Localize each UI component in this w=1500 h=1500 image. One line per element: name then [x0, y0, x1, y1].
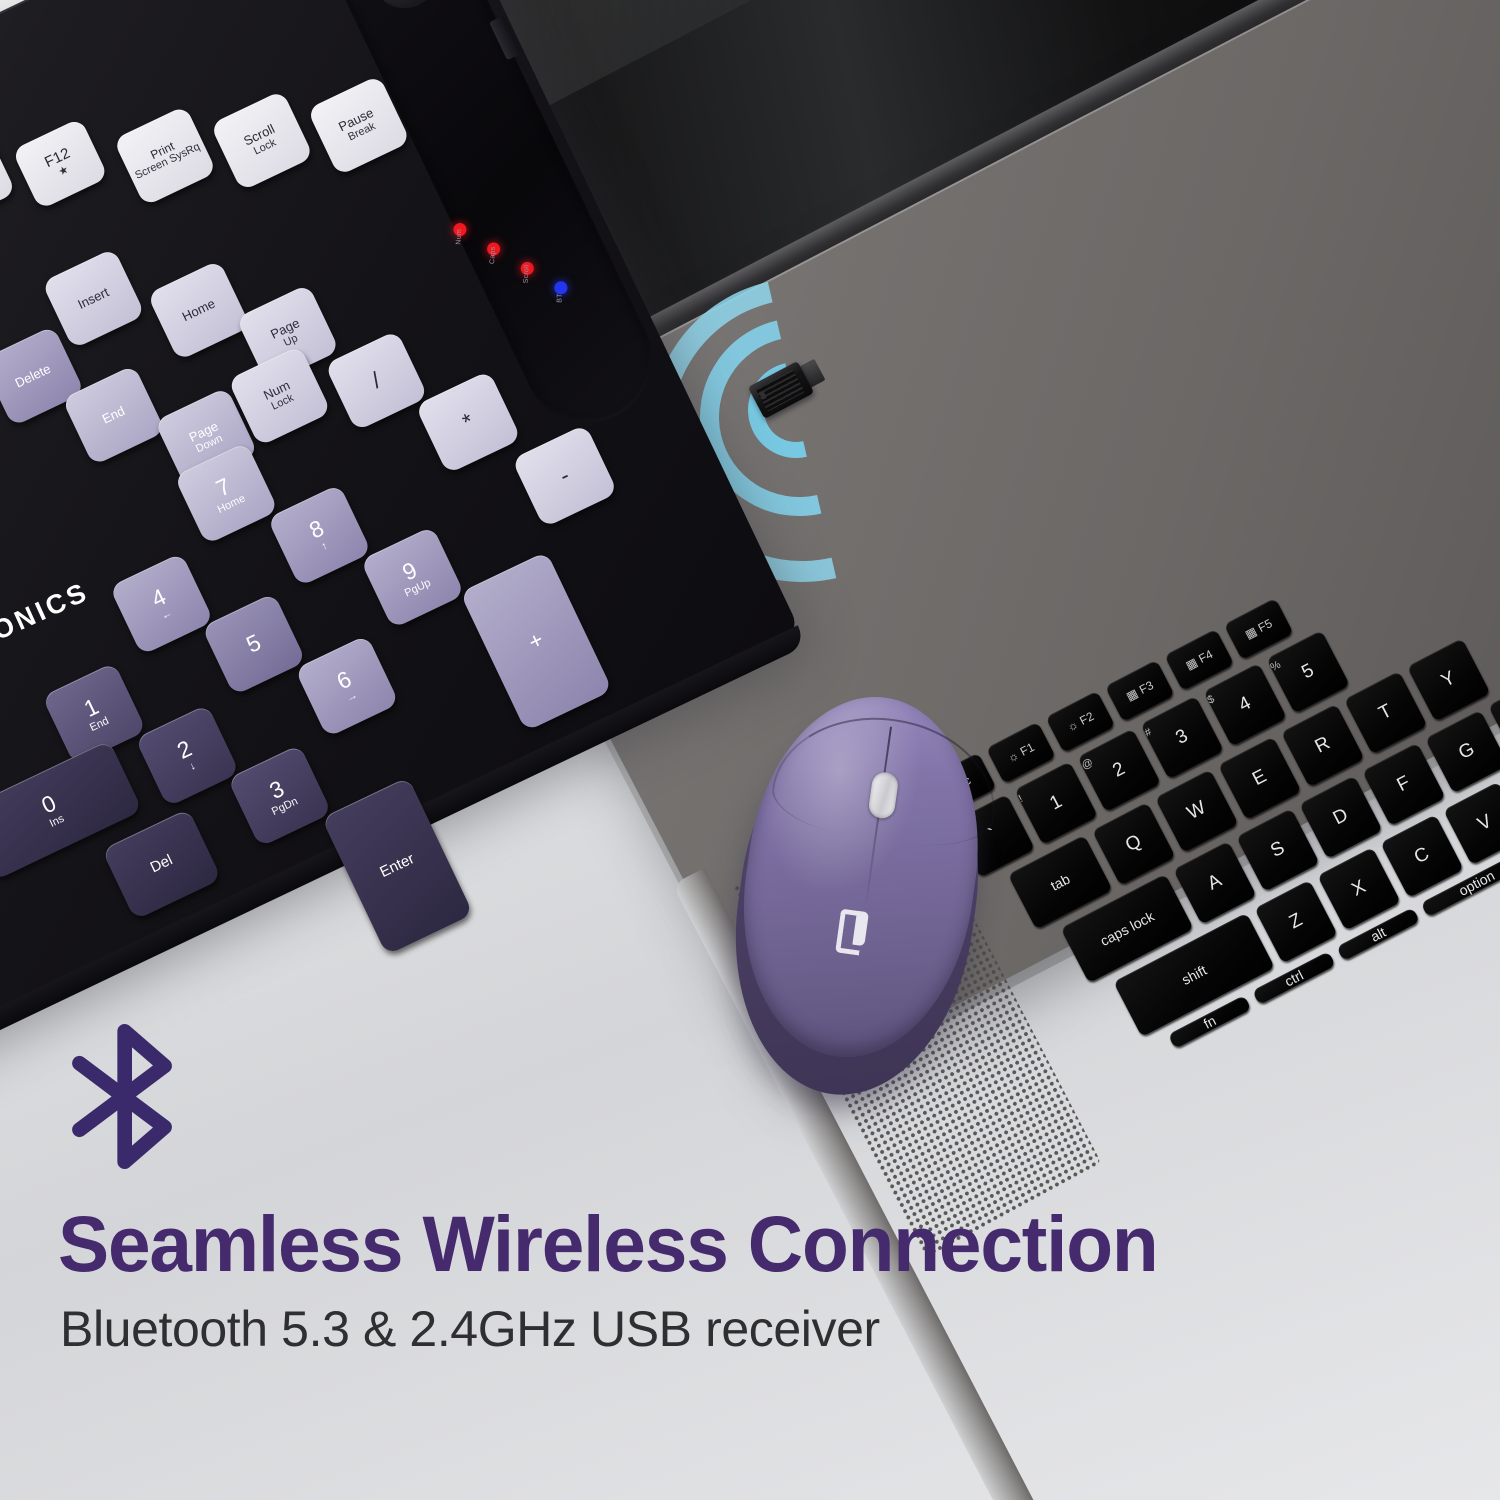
arrow-left-icon: ← [160, 608, 175, 623]
mission-control-icon: ▦ [1124, 686, 1141, 704]
lap-key-y[interactable]: Y [1407, 638, 1491, 722]
arrow-up-icon: ↑ [320, 540, 330, 553]
brightness-icon: ☼ [1005, 748, 1021, 765]
portronics-p-icon [836, 909, 875, 949]
lap-key-5[interactable]: % 5 [1266, 630, 1350, 714]
bluetooth-icon [60, 1018, 200, 1183]
brightness-icon: ☼ [1065, 717, 1081, 734]
f12-icon: ★ [57, 164, 71, 179]
product-marketing-image: esc ☼ F1 ☼ F2 ▦ F3 ▦ F4 ▦ F5 [0, 0, 1500, 1500]
arrow-right-icon: → [345, 690, 360, 705]
page-subheadline: Bluetooth 5.3 & 2.4GHz USB receiver [60, 1300, 1450, 1358]
launchpad-icon: ▦ [1183, 655, 1200, 673]
page-headline: Seamless Wireless Connection [58, 1198, 1406, 1290]
keyboard-light-icon: ▦ [1243, 624, 1260, 642]
keyboard-dial-button[interactable] [361, 0, 449, 19]
arrow-down-icon: ↓ [188, 761, 198, 774]
